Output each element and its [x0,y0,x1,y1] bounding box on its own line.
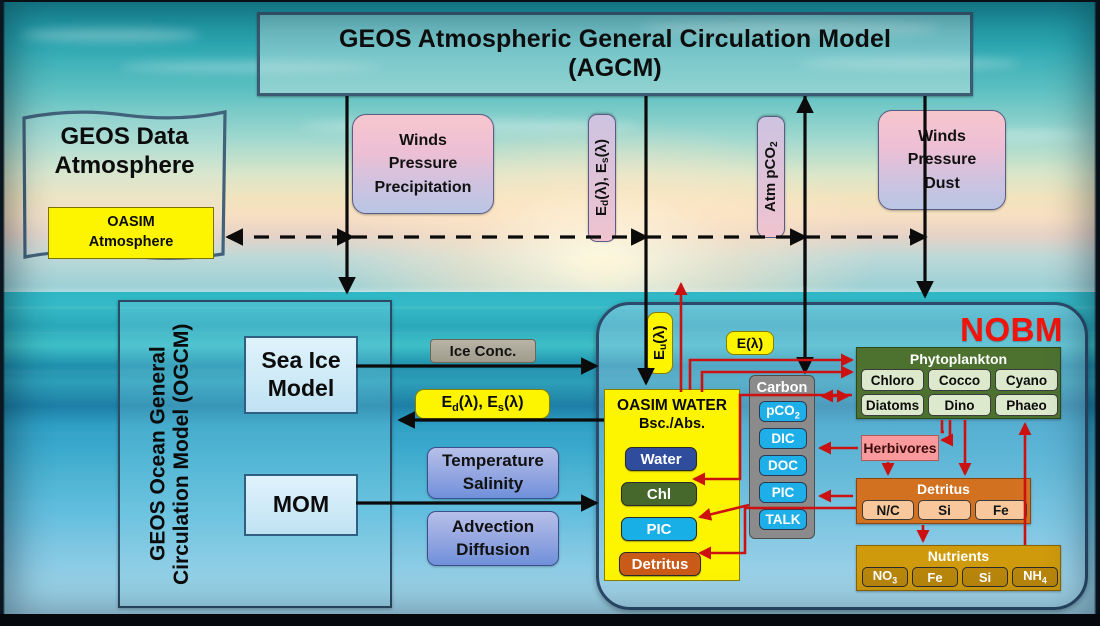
nutrients-cell-no3[interactable]: NO3 [862,567,908,587]
salinity-label: Salinity [463,473,523,496]
slide-frame-right [1094,0,1100,626]
phyto-cell-cocco[interactable]: Cocco [928,369,991,391]
phytoplankton-box[interactable]: Phytoplankton Chloro Cocco Cyano Diatoms… [856,347,1061,419]
eu-lambda-label: Eu(λ) [647,312,673,374]
ed-es-ocean-label: Ed(λ), Es(λ) [415,389,550,419]
wpp-line1: Winds [399,129,447,152]
sea-ice-model-box[interactable]: Sea Ice Model [244,336,358,414]
oasim-chip-pic[interactable]: PIC [621,517,697,541]
phyto-cell-phaeo[interactable]: Phaeo [995,394,1058,416]
detritus-cell-si[interactable]: Si [918,500,970,520]
geos-data-title-line1: GEOS Data [54,122,194,151]
e-lambda-label: E(λ) [726,331,774,355]
nutrients-box[interactable]: Nutrients NO3 Fe Si NH4 [856,545,1061,591]
advection-label: Advection [452,516,534,539]
oasim-water-subheader: Bsc./Abs. [605,416,739,433]
oasim-chip-chl[interactable]: Chl [621,482,697,506]
detritus-header: Detritus [857,479,1030,497]
phyto-cell-cyano[interactable]: Cyano [995,369,1058,391]
detritus-box[interactable]: Detritus N/C Si Fe [856,478,1031,524]
agcm-title-line2: (AGCM) [339,54,891,84]
winds-pressure-dust-box[interactable]: Winds Pressure Dust [878,110,1006,210]
sea-ice-line1: Sea Ice [261,347,340,375]
wpd-line2: Pressure [908,148,977,171]
carbon-chip-pco2[interactable]: pCO2 [759,401,807,422]
oasim-water-header: OASIM WATER [605,397,739,416]
ogcm-box[interactable]: GEOS Ocean General Circulation Model (OG… [118,300,392,608]
phyto-cell-chloro[interactable]: Chloro [861,369,924,391]
wpd-line3: Dust [924,172,960,195]
temperature-label: Temperature [442,450,544,473]
nobm-title: NOBM [960,311,1063,349]
oasim-atmosphere-box[interactable]: OASIM Atmosphere [48,207,214,259]
carbon-chip-dic[interactable]: DIC [759,428,807,449]
mom-label: MOM [273,491,329,519]
slide-frame-left [0,0,5,626]
ice-conc-label: Ice Conc. [430,339,536,363]
nutrients-cell-si[interactable]: Si [962,567,1008,587]
oasim-chip-water[interactable]: Water [625,447,697,471]
ed-es-vertical-label: Ed(λ), Es(λ) [588,114,616,242]
oasim-chip-detritus[interactable]: Detritus [619,552,701,576]
oasim-atmosphere-line1: OASIM [107,213,155,233]
agcm-box[interactable]: GEOS Atmospheric General Circulation Mod… [257,12,973,96]
advection-diffusion-box[interactable]: Advection Diffusion [427,511,559,566]
nutrients-header: Nutrients [857,546,1060,564]
phytoplankton-header: Phytoplankton [857,348,1060,367]
phyto-cell-dino[interactable]: Dino [928,394,991,416]
detritus-cell-nc[interactable]: N/C [862,500,914,520]
winds-pressure-precipitation-box[interactable]: Winds Pressure Precipitation [352,114,494,214]
diffusion-label: Diffusion [456,539,530,562]
carbon-box[interactable]: Carbon pCO2 DIC DOC PIC TALK [749,375,815,539]
carbon-chip-talk[interactable]: TALK [759,509,807,530]
detritus-cell-fe[interactable]: Fe [975,500,1027,520]
mom-box[interactable]: MOM [244,474,358,536]
carbon-header: Carbon [750,380,814,396]
herbivores-box[interactable]: Herbivores [861,435,939,461]
oasim-water-box[interactable]: OASIM WATER Bsc./Abs. Water Chl PIC Detr… [604,389,740,581]
wpd-line1: Winds [918,125,966,148]
wpp-line2: Pressure [389,152,458,175]
carbon-chip-doc[interactable]: DOC [759,455,807,476]
temperature-salinity-box[interactable]: Temperature Salinity [427,447,559,499]
carbon-chip-pic[interactable]: PIC [759,482,807,503]
diagram-canvas: GEOS Atmospheric General Circulation Mod… [0,0,1100,626]
oasim-atmosphere-line2: Atmosphere [89,233,174,253]
geos-data-title-line2: Atmosphere [54,151,194,180]
herbivores-label: Herbivores [863,440,936,456]
nutrients-cell-nh4[interactable]: NH4 [1012,567,1058,587]
agcm-title-line1: GEOS Atmospheric General Circulation Mod… [339,25,891,55]
atm-pco2-vertical-label: Atm pCO2 [757,116,785,238]
sea-ice-line2: Model [268,375,334,403]
phyto-cell-diatoms[interactable]: Diatoms [861,394,924,416]
ogcm-label: GEOS Ocean General Circulation Model (OG… [122,302,218,606]
slide-frame-bottom [0,614,1100,626]
geos-data-atmosphere-box[interactable]: GEOS Data Atmosphere OASIM Atmosphere [18,104,231,266]
wpp-line3: Precipitation [375,176,472,199]
nutrients-cell-fe[interactable]: Fe [912,567,958,587]
